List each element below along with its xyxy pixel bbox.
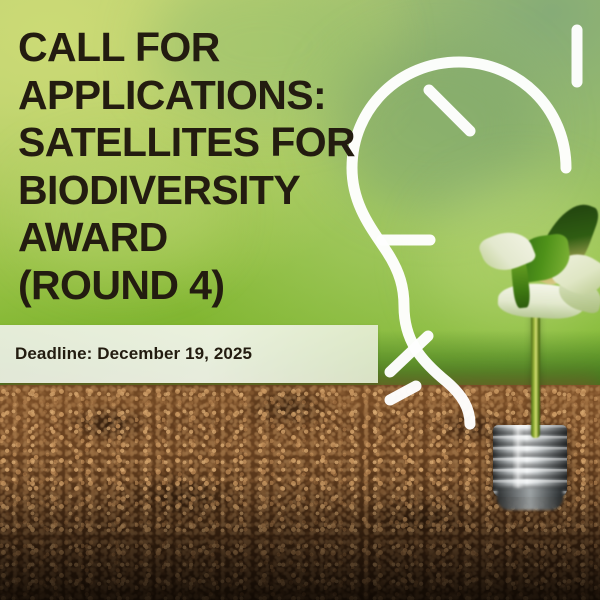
- seedling-stem: [531, 298, 540, 438]
- seedling-plant: [470, 180, 600, 440]
- seedling-layers: [470, 180, 600, 440]
- deadline-banner: Deadline: December 19, 2025: [0, 325, 378, 383]
- bulb-base-foot: [497, 488, 563, 510]
- page-title: CALL FOR APPLICATIONS: SATELLITES FOR BI…: [18, 24, 448, 309]
- bulb-ray-bottom-left: [390, 386, 416, 400]
- promotional-poster: CALL FOR APPLICATIONS: SATELLITES FOR BI…: [0, 0, 600, 600]
- deadline-label: Deadline: December 19, 2025: [15, 344, 252, 364]
